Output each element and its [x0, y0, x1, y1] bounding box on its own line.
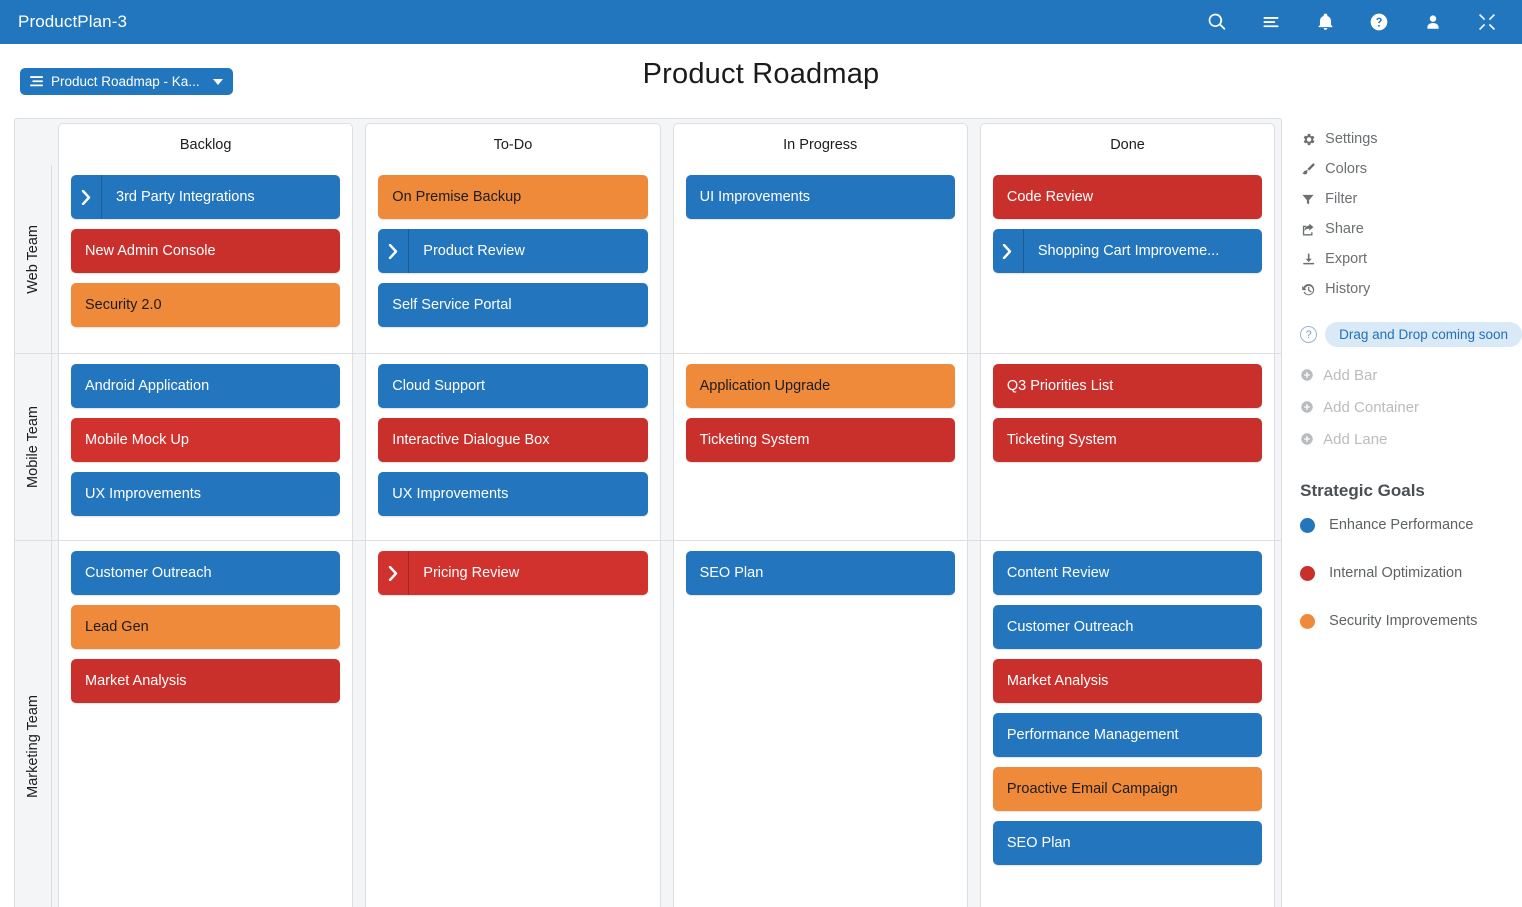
strategic-goal-item[interactable]: Enhance Performance	[1300, 501, 1522, 549]
drag-drop-notice: ? Drag and Drop coming soon	[1300, 322, 1522, 347]
strategic-goals-title: Strategic Goals	[1300, 481, 1522, 501]
swimlane-columns: Customer OutreachLead GenMarket Analysis…	[52, 541, 1281, 907]
column-header-label: Done	[1110, 137, 1145, 153]
roadmap-card[interactable]: 3rd Party Integrations	[71, 175, 340, 219]
roadmap-card-label: Android Application	[71, 364, 340, 408]
download-icon	[1300, 252, 1316, 267]
strategic-goal-item[interactable]: Security Improvements	[1300, 597, 1522, 645]
board-lanes: Web Team3rd Party IntegrationsNew Admin …	[15, 165, 1281, 907]
plus-circle-icon	[1300, 400, 1315, 414]
roadmap-card[interactable]: Android Application	[71, 364, 340, 408]
roadmap-card-label: 3rd Party Integrations	[102, 175, 340, 219]
roadmap-card-label: Ticketing System	[993, 418, 1262, 462]
roadmap-card-label: Proactive Email Campaign	[993, 767, 1262, 811]
expand-icon[interactable]	[1476, 11, 1498, 33]
board-cell: Content ReviewCustomer OutreachMarket An…	[980, 541, 1275, 907]
roadmap-card[interactable]: Content Review	[993, 551, 1262, 595]
column-header[interactable]: Backlog	[58, 123, 353, 165]
board-column-headers: BacklogTo-DoIn ProgressDone	[15, 119, 1281, 165]
sidebar-add-label: Add Bar	[1323, 367, 1377, 384]
help-question-icon[interactable]: ?	[1300, 326, 1317, 343]
roadmap-card[interactable]: Self Service Portal	[378, 283, 647, 327]
roadmap-card-label: Performance Management	[993, 713, 1262, 757]
gear-icon	[1300, 132, 1316, 147]
appbar-icon-group	[1206, 11, 1498, 33]
roadmap-card-label: Ticketing System	[686, 418, 955, 462]
strategic-goal-item[interactable]: Internal Optimization	[1300, 549, 1522, 597]
roadmap-card-label: Mobile Mock Up	[71, 418, 340, 462]
sidebar-tool-label: History	[1325, 281, 1370, 297]
board-cell: 3rd Party IntegrationsNew Admin ConsoleS…	[58, 165, 353, 353]
roadmap-card[interactable]: Proactive Email Campaign	[993, 767, 1262, 811]
swimlane-columns: Android ApplicationMobile Mock UpUX Impr…	[52, 354, 1281, 540]
goal-color-dot	[1300, 518, 1315, 533]
roadmap-card[interactable]: Customer Outreach	[993, 605, 1262, 649]
swimlane: Web Team3rd Party IntegrationsNew Admin …	[15, 165, 1281, 353]
roadmap-card-label: Self Service Portal	[378, 283, 647, 327]
column-header[interactable]: In Progress	[673, 123, 968, 165]
roadmap-card-label: Security 2.0	[71, 283, 340, 327]
roadmap-card-label: Interactive Dialogue Box	[378, 418, 647, 462]
roadmap-card[interactable]: Performance Management	[993, 713, 1262, 757]
roadmap-card[interactable]: Product Review	[378, 229, 647, 273]
sidebar-tool-settings[interactable]: Settings	[1300, 124, 1522, 154]
sidebar-tool-export[interactable]: Export	[1300, 244, 1522, 274]
roadmap-card-label: SEO Plan	[686, 551, 955, 595]
drag-drop-notice-label: Drag and Drop coming soon	[1325, 322, 1522, 347]
page-title: Product Roadmap	[0, 58, 1522, 91]
chevron-right-icon[interactable]	[993, 229, 1024, 273]
swimlane-label[interactable]: Mobile Team	[15, 354, 52, 540]
board-cell: On Premise BackupProduct ReviewSelf Serv…	[365, 165, 660, 353]
column-header[interactable]: To-Do	[365, 123, 660, 165]
sidebar-tool-label: Share	[1325, 221, 1364, 237]
history-icon	[1300, 282, 1316, 297]
roadmap-card[interactable]: Pricing Review	[378, 551, 647, 595]
sidebar-add-list: Add BarAdd ContainerAdd Lane	[1300, 359, 1522, 455]
strategic-goal-label: Enhance Performance	[1329, 517, 1473, 533]
column-header[interactable]: Done	[980, 123, 1275, 165]
roadmap-card[interactable]: Market Analysis	[71, 659, 340, 703]
swimlane: Marketing TeamCustomer OutreachLead GenM…	[15, 540, 1281, 907]
roadmap-card-label: New Admin Console	[71, 229, 340, 273]
swimlane-columns: 3rd Party IntegrationsNew Admin ConsoleS…	[52, 165, 1281, 353]
app-title: ProductPlan-3	[18, 12, 127, 32]
roadmap-board: BacklogTo-DoIn ProgressDone Web Team3rd …	[14, 118, 1282, 907]
board-cell: UI Improvements	[673, 165, 968, 353]
roadmap-card-label: Content Review	[993, 551, 1262, 595]
board-cell: Cloud SupportInteractive Dialogue BoxUX …	[365, 354, 660, 540]
board-cell: Q3 Priorities ListTicketing System	[980, 354, 1275, 540]
roadmap-card[interactable]: New Admin Console	[71, 229, 340, 273]
roadmap-card[interactable]: Interactive Dialogue Box	[378, 418, 647, 462]
bell-icon[interactable]	[1314, 11, 1336, 33]
roadmap-card[interactable]: Ticketing System	[686, 418, 955, 462]
roadmap-card-label: Customer Outreach	[993, 605, 1262, 649]
swimlane-label[interactable]: Web Team	[15, 165, 52, 353]
board-cell: SEO Plan	[673, 541, 968, 907]
roadmap-card-label: UX Improvements	[378, 472, 647, 516]
roadmap-card[interactable]: UI Improvements	[686, 175, 955, 219]
sidebar-tool-history[interactable]: History	[1300, 274, 1522, 304]
roadmap-card-label: On Premise Backup	[378, 175, 647, 219]
roadmap-card[interactable]: On Premise Backup	[378, 175, 647, 219]
board-cell: Pricing Review	[365, 541, 660, 907]
roadmap-card[interactable]: Ticketing System	[993, 418, 1262, 462]
roadmap-card[interactable]: UX Improvements	[71, 472, 340, 516]
roadmap-card-label: Lead Gen	[71, 605, 340, 649]
roadmap-card[interactable]: Code Review	[993, 175, 1262, 219]
roadmap-card-label: Application Upgrade	[686, 364, 955, 408]
body-wrap: BacklogTo-DoIn ProgressDone Web Team3rd …	[0, 118, 1522, 907]
roadmap-card[interactable]: Cloud Support	[378, 364, 647, 408]
roadmap-card[interactable]: Customer Outreach	[71, 551, 340, 595]
sidebar-add-lane-button[interactable]: Add Lane	[1300, 423, 1522, 455]
help-circle-icon[interactable]	[1368, 11, 1390, 33]
column-header-label: In Progress	[783, 137, 857, 153]
sidebar-tool-share[interactable]: Share	[1300, 214, 1522, 244]
swimlane-label-text: Marketing Team	[25, 695, 41, 798]
roadmap-card-label: Market Analysis	[993, 659, 1262, 703]
filter-lines-icon[interactable]	[1260, 11, 1282, 33]
chevron-right-icon[interactable]	[378, 551, 409, 595]
goal-color-dot	[1300, 614, 1315, 629]
roadmap-card-label: UI Improvements	[686, 175, 955, 219]
roadmap-card[interactable]: Market Analysis	[993, 659, 1262, 703]
roadmap-card-label: SEO Plan	[993, 821, 1262, 865]
sidebar-tool-label: Export	[1325, 251, 1367, 267]
sidebar-add-label: Add Container	[1323, 399, 1419, 416]
roadmap-card[interactable]: Q3 Priorities List	[993, 364, 1262, 408]
board-cell: Code ReviewShopping Cart Improveme...	[980, 165, 1275, 353]
roadmap-card[interactable]: Application Upgrade	[686, 364, 955, 408]
sidebar-add-label: Add Lane	[1323, 431, 1387, 448]
board-cell: Android ApplicationMobile Mock UpUX Impr…	[58, 354, 353, 540]
column-header-label: Backlog	[180, 137, 232, 153]
sidebar-add-container-button[interactable]: Add Container	[1300, 391, 1522, 423]
roadmap-card-label: Code Review	[993, 175, 1262, 219]
roadmap-card-label: Shopping Cart Improveme...	[1024, 229, 1262, 273]
sidebar-add-bar-button[interactable]: Add Bar	[1300, 359, 1522, 391]
roadmap-card-label: UX Improvements	[71, 472, 340, 516]
board-cell: Customer OutreachLead GenMarket Analysis	[58, 541, 353, 907]
swimlane-label-text: Mobile Team	[25, 406, 41, 488]
strategic-goal-label: Internal Optimization	[1329, 565, 1462, 581]
user-icon[interactable]	[1422, 11, 1444, 33]
plus-circle-icon	[1300, 432, 1315, 446]
roadmap-card[interactable]: Shopping Cart Improveme...	[993, 229, 1262, 273]
roadmap-card-label: Cloud Support	[378, 364, 647, 408]
paintbrush-icon	[1300, 162, 1316, 177]
strategic-goal-label: Security Improvements	[1329, 613, 1477, 629]
share-icon	[1300, 222, 1316, 237]
sidebar-tool-list: SettingsColorsFilterShareExportHistory	[1300, 124, 1522, 304]
goal-color-dot	[1300, 566, 1315, 581]
column-header-label: To-Do	[494, 137, 533, 153]
roadmap-card[interactable]: Lead Gen	[71, 605, 340, 649]
roadmap-card[interactable]: UX Improvements	[378, 472, 647, 516]
strategic-goals-legend: Enhance PerformanceInternal Optimization…	[1300, 501, 1522, 645]
roadmap-card[interactable]: Mobile Mock Up	[71, 418, 340, 462]
roadmap-card-label: Pricing Review	[409, 551, 647, 595]
app-top-bar: ProductPlan-3	[0, 0, 1522, 44]
roadmap-card[interactable]: SEO Plan	[993, 821, 1262, 865]
swimlane-label-text: Web Team	[25, 225, 41, 294]
sidebar-tool-label: Settings	[1325, 131, 1377, 147]
swimlane: Mobile TeamAndroid ApplicationMobile Moc…	[15, 353, 1281, 540]
sidebar-tool-filter[interactable]: Filter	[1300, 184, 1522, 214]
roadmap-card[interactable]: Security 2.0	[71, 283, 340, 327]
board-cell: Application UpgradeTicketing System	[673, 354, 968, 540]
swimlane-label[interactable]: Marketing Team	[15, 541, 52, 907]
search-icon[interactable]	[1206, 11, 1228, 33]
chevron-right-icon[interactable]	[378, 229, 409, 273]
roadmap-card-label: Q3 Priorities List	[993, 364, 1262, 408]
plus-circle-icon	[1300, 368, 1315, 382]
sidebar-tool-label: Filter	[1325, 191, 1357, 207]
roadmap-card[interactable]: SEO Plan	[686, 551, 955, 595]
right-sidebar: SettingsColorsFilterShareExportHistory ?…	[1282, 118, 1522, 907]
roadmap-card-label: Market Analysis	[71, 659, 340, 703]
title-zone: Product Roadmap - Ka... Product Roadmap	[0, 44, 1522, 118]
chevron-right-icon[interactable]	[71, 175, 102, 219]
funnel-icon	[1300, 192, 1316, 207]
roadmap-card-label: Product Review	[409, 229, 647, 273]
sidebar-tool-colors[interactable]: Colors	[1300, 154, 1522, 184]
sidebar-tool-label: Colors	[1325, 161, 1367, 177]
roadmap-card-label: Customer Outreach	[71, 551, 340, 595]
